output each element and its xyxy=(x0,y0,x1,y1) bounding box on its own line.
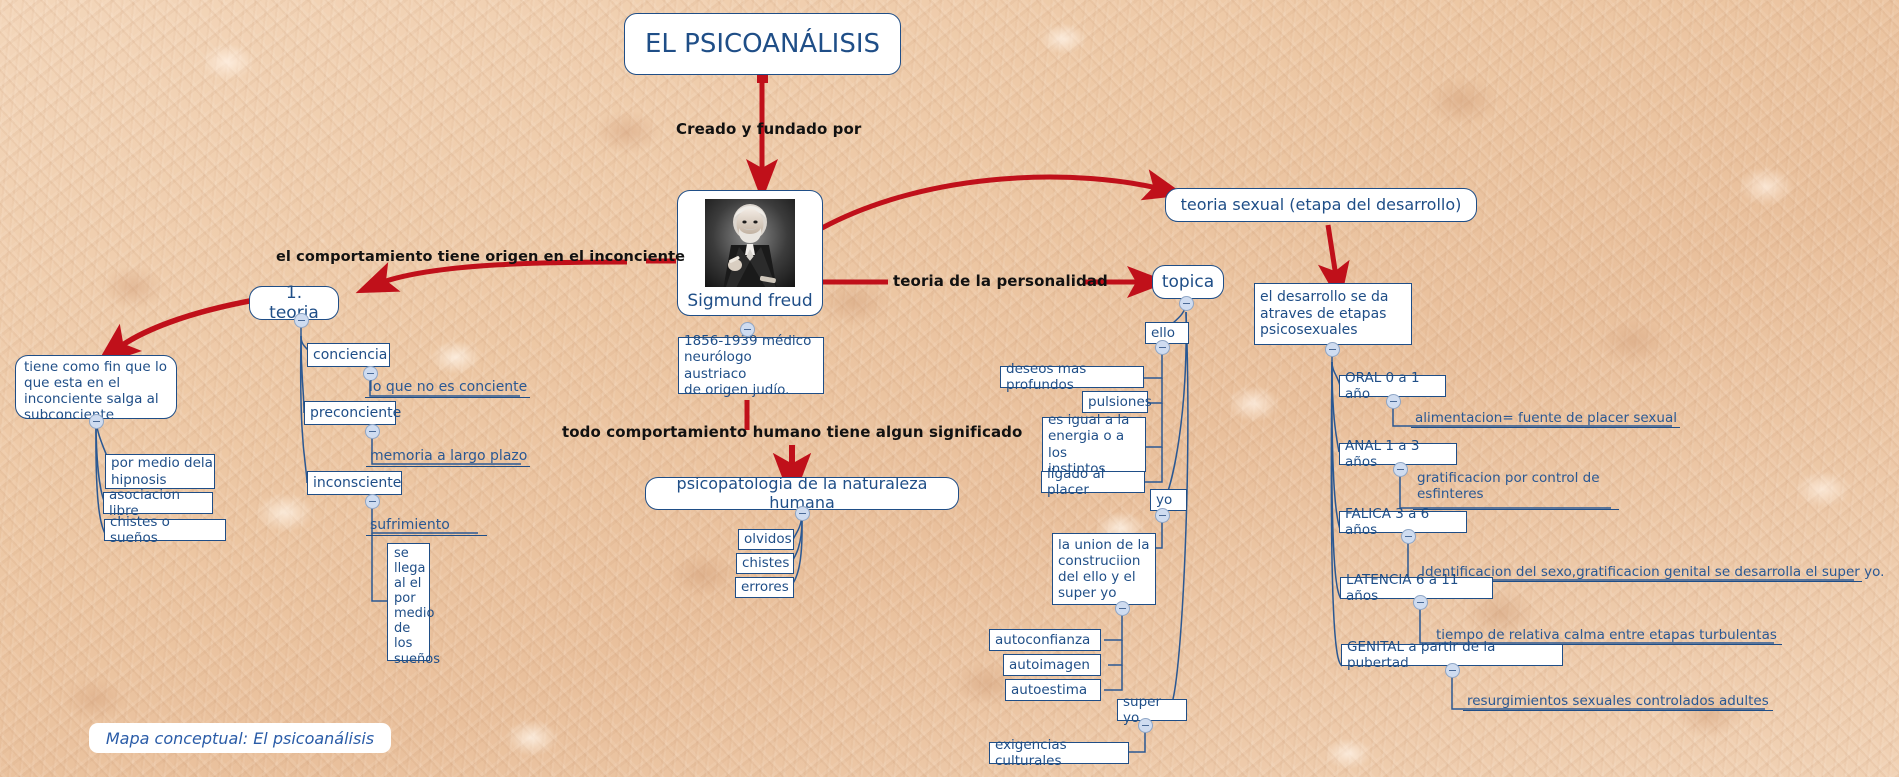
collapse-handle-inconsciente[interactable] xyxy=(365,494,380,509)
teoria1-node[interactable]: 1. teoria xyxy=(249,286,339,320)
yo-descripcion-node[interactable]: la union de la construciion del ello y e… xyxy=(1052,533,1156,605)
collapse-handle-yo-descripcion[interactable] xyxy=(1115,601,1130,616)
root-node-el-psicoanalisis[interactable]: EL PSICOANÁLISIS xyxy=(624,13,901,75)
teoria1-inconsciente-vertical-note[interactable]: se llega al el por medio de los sueños xyxy=(387,543,430,661)
teoria-sexual-desarrollo-node[interactable]: el desarrollo se da atraves de etapas ps… xyxy=(1254,283,1412,345)
freud-node-label: Sigmund freud xyxy=(687,291,812,311)
teoria1-nivel-preconciente[interactable]: preconciente xyxy=(304,401,396,425)
ello-child-deseos[interactable]: deseos mas profundos xyxy=(1000,366,1144,388)
ello-child-pulsiones[interactable]: pulsiones xyxy=(1082,391,1148,413)
freud-bio-line-3: de origen judío. xyxy=(684,382,789,398)
topica-label: topica xyxy=(1162,272,1214,292)
collapse-handle-teoria1-fin[interactable] xyxy=(89,414,104,429)
collapse-handle-teoria1[interactable] xyxy=(294,313,309,328)
super-yo-child-exigencias[interactable]: exigencias culturales xyxy=(989,742,1129,764)
teoria1-fin-child-asociacion-libre[interactable]: asociacion libre xyxy=(103,492,213,514)
collapse-handle-etapa-anal[interactable] xyxy=(1393,462,1408,477)
collapse-handle-topica[interactable] xyxy=(1179,296,1194,311)
teoria1-detail-sufrimiento: sufrimiento xyxy=(366,512,487,536)
teoria1-detail-lo-que-no-es-conciente: lo que no es conciente xyxy=(365,374,530,398)
freud-portrait-image xyxy=(705,199,795,287)
collapse-handle-preconciente[interactable] xyxy=(365,424,380,439)
collapse-handle-psicopatologia[interactable] xyxy=(795,506,810,521)
teoria-sexual-label: teoria sexual (etapa del desarrollo) xyxy=(1181,196,1462,215)
teoria1-fin-child-chistes-suenos[interactable]: chistes o sueños xyxy=(104,519,226,541)
teoria1-fin-node[interactable]: tiene como fin que lo que esta en el inc… xyxy=(15,355,177,419)
psicopatologia-child-chistes[interactable]: chistes xyxy=(736,553,794,574)
topica-node[interactable]: topica xyxy=(1152,265,1224,299)
ello-child-energia-instintos[interactable]: es igual a la energia o a los instintos xyxy=(1042,417,1146,472)
teoria1-nivel-conciencia[interactable]: conciencia xyxy=(307,343,390,367)
connector-label-comportamiento-origen: el comportamiento tiene origen en el inc… xyxy=(276,249,685,265)
connector-label-creado-y-fundado-por: Creado y fundado por xyxy=(676,120,861,138)
yo-child-autoimagen[interactable]: autoimagen xyxy=(1003,654,1101,676)
collapse-handle-yo[interactable] xyxy=(1155,508,1170,523)
collapse-handle-ello[interactable] xyxy=(1155,340,1170,355)
etapa-genital-detail: resurgimientos sexuales controlados adul… xyxy=(1463,687,1773,711)
yo-child-autoconfianza[interactable]: autoconfianza xyxy=(989,629,1101,651)
connector-label-todo-comportamiento: todo comportamiento humano tiene algun s… xyxy=(562,423,1022,441)
topica-instancia-super-yo[interactable]: super yo xyxy=(1117,699,1187,721)
collapse-handle-freud[interactable] xyxy=(740,322,755,337)
map-canvas-background xyxy=(0,0,1899,777)
collapse-handle-super-yo[interactable] xyxy=(1138,718,1153,733)
teoria1-nivel-inconsciente[interactable]: inconsciente xyxy=(307,471,402,495)
teoria1-fin-child-hipnosis[interactable]: por medio dela hipnosis xyxy=(105,454,215,489)
collapse-handle-desarrollo[interactable] xyxy=(1325,342,1340,357)
psicopatologia-child-olvidos[interactable]: olvidos xyxy=(738,529,794,550)
psicopatologia-child-errores[interactable]: errores xyxy=(735,577,794,598)
teoria-sexual-node[interactable]: teoria sexual (etapa del desarrollo) xyxy=(1165,188,1477,222)
topica-instancia-yo[interactable]: yo xyxy=(1150,489,1187,511)
yo-child-autoestima[interactable]: autoestima xyxy=(1005,679,1101,701)
freud-bio-node[interactable]: 1856-1939 médico neurólogo austriaco de … xyxy=(678,337,824,394)
collapse-handle-etapa-falica[interactable] xyxy=(1401,529,1416,544)
collapse-handle-etapa-genital[interactable] xyxy=(1445,663,1460,678)
map-caption: Mapa conceptual: El psicoanálisis xyxy=(89,723,391,753)
collapse-handle-etapa-oral[interactable] xyxy=(1386,394,1401,409)
collapse-handle-etapa-latencia[interactable] xyxy=(1413,595,1428,610)
freud-node[interactable]: Sigmund freud xyxy=(677,190,823,316)
freud-bio-line-2: neurólogo austriaco xyxy=(684,349,818,381)
connector-label-teoria-personalidad: teoria de la personalidad xyxy=(893,272,1108,290)
root-node-label: EL PSICOANÁLISIS xyxy=(645,29,880,60)
etapa-anal-detail: gratificacion por control de esfinteres xyxy=(1413,470,1619,510)
etapa-oral-detail: alimentacion= fuente de placer sexual xyxy=(1411,404,1680,428)
ello-child-ligado-placer[interactable]: ligado al placer xyxy=(1041,471,1145,493)
teoria1-detail-memoria-largo-plazo: memoria a largo plazo xyxy=(366,443,530,467)
